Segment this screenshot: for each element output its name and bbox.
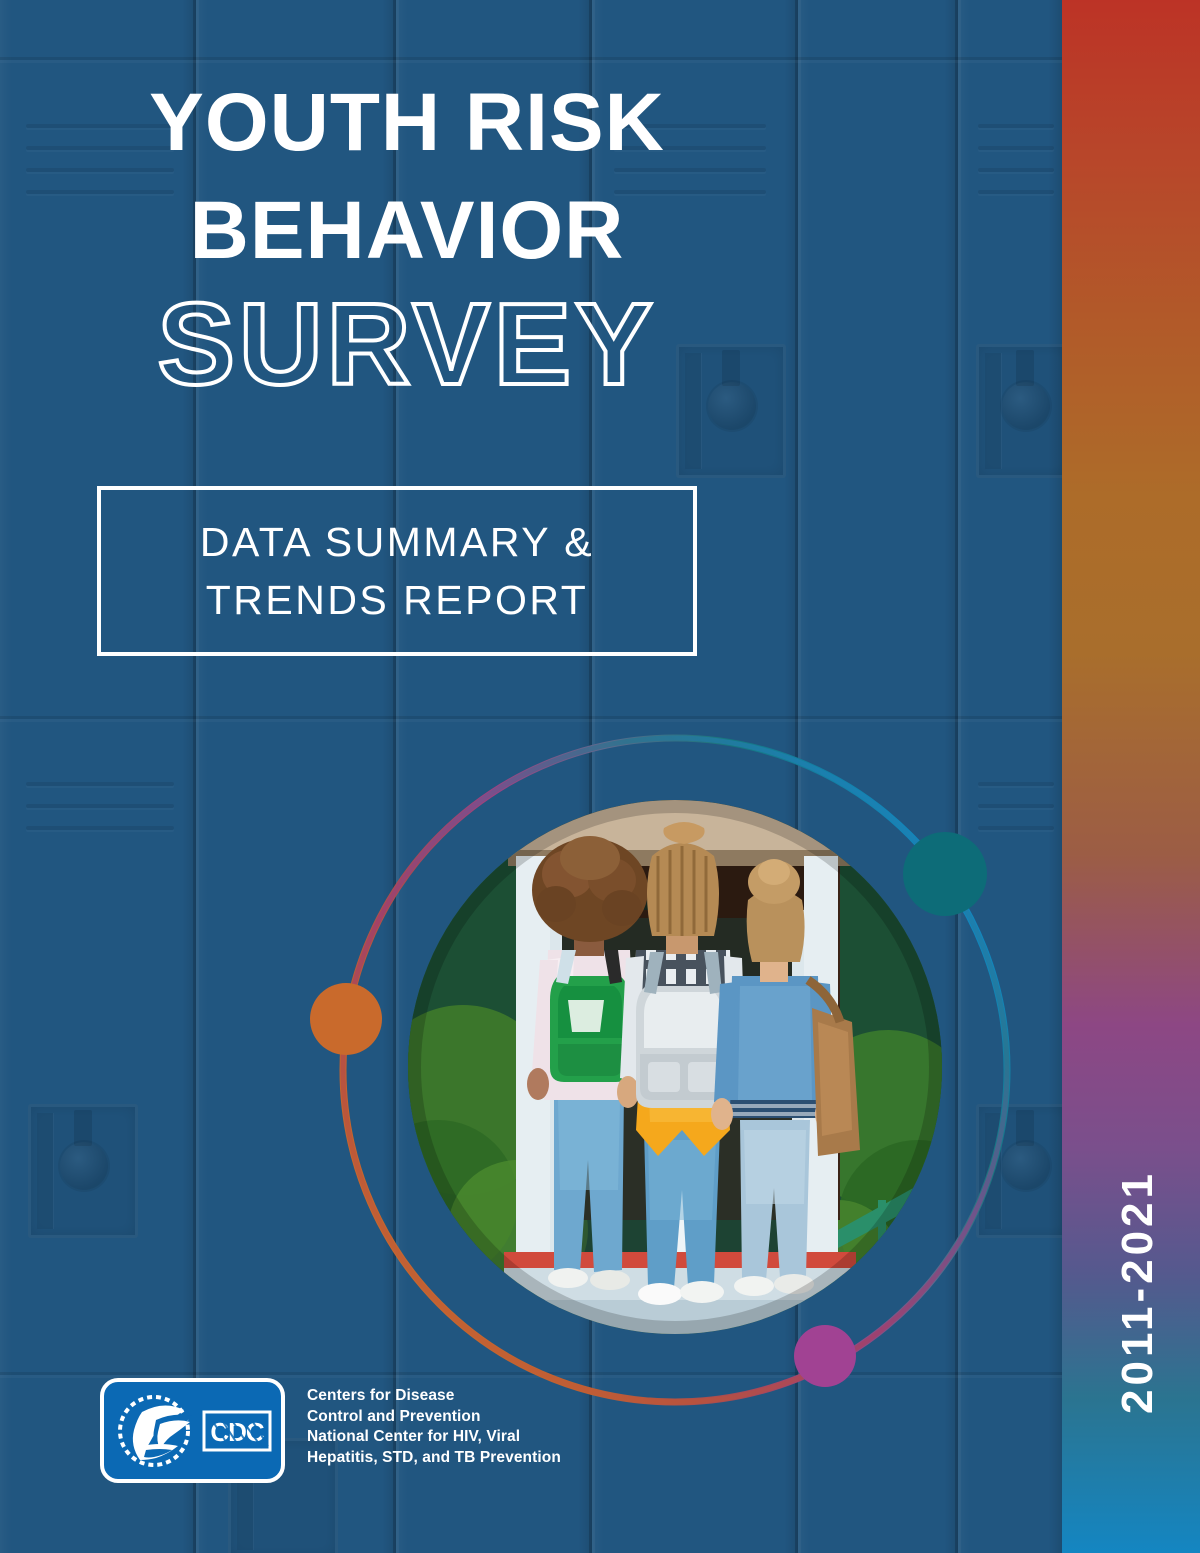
agency-line-1: Centers for Disease xyxy=(307,1386,561,1407)
agency-line-3: National Center for HIV, Viral xyxy=(307,1427,561,1448)
agency-line-2: Control and Prevention xyxy=(307,1407,561,1428)
subtitle-box: DATA SUMMARY & TRENDS REPORT xyxy=(97,486,697,656)
cover-photo-students xyxy=(408,800,942,1334)
title-line-survey-outlined: SURVEY xyxy=(97,286,717,402)
report-cover-page: YOUTH RISK BEHAVIOR SURVEY DATA SUMMARY … xyxy=(0,0,1200,1553)
agency-name-text: Centers for Disease Control and Preventi… xyxy=(307,1386,561,1468)
title-line-youth-risk: YOUTH RISK xyxy=(97,82,717,164)
orbit-dot-purple xyxy=(794,1325,856,1387)
cover-title-block: YOUTH RISK BEHAVIOR SURVEY xyxy=(97,82,717,402)
students-entering-school-illustration xyxy=(408,800,942,1334)
title-line-behavior: BEHAVIOR xyxy=(97,190,717,272)
cdc-logo-block: CDC Centers for Disease Control and Prev… xyxy=(100,1378,561,1483)
hhs-cdc-emblem-icon: CDC xyxy=(112,1390,274,1472)
orbit-dot-orange xyxy=(310,983,382,1055)
cdc-logo-mark: CDC xyxy=(100,1378,285,1483)
year-range-label: 2011-2021 xyxy=(1116,1170,1160,1414)
subtitle-line-trends-report: TRENDS REPORT xyxy=(206,571,589,629)
orbit-dot-teal xyxy=(903,832,987,916)
subtitle-line-data-summary: DATA SUMMARY & xyxy=(200,513,594,571)
agency-line-4: Hepatitis, STD, and TB Prevention xyxy=(307,1448,561,1469)
